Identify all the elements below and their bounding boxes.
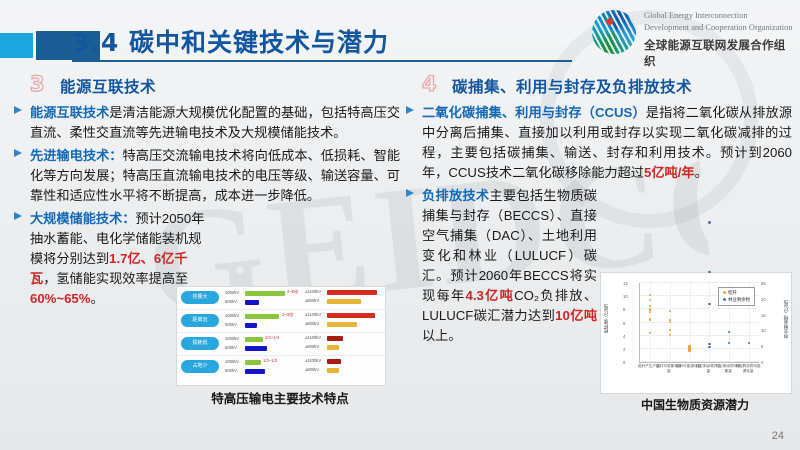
- chart-gridline: [640, 282, 759, 283]
- right-bullet-2-lead: 负排放技术: [422, 188, 489, 203]
- uhv-row-key-1b: 500kV: [225, 322, 237, 327]
- right-bullet-1: 二氧化碳捕集、利用与封存（CCUS）是指将二氧化碳从排放源中分离后捕集、直接加以…: [400, 103, 792, 183]
- uhv-bar-blue: [245, 369, 265, 374]
- left-bullet-3-body-2: ，氢储能实现效率提高至: [43, 271, 188, 286]
- uhv-row-key-2b: ±800kV: [305, 344, 319, 349]
- uhv-row-key-2b: ±800kV: [305, 367, 319, 372]
- chart-gridline-vertical: [709, 283, 710, 362]
- chart-y-tick: 4: [623, 334, 625, 339]
- left-section-header: 3 能源互联技术: [8, 74, 400, 100]
- org-logo: Global Energy Interconnection Developmen…: [592, 8, 797, 60]
- uhv-bar-red: [327, 336, 343, 341]
- uhv-row-key-1: 1000kV: [225, 336, 239, 341]
- uhv-bar-blue: [245, 346, 267, 351]
- left-bullet-3-lead: 大规模储能技术：: [30, 211, 136, 226]
- left-bullet-3-body-3: 。: [91, 291, 104, 306]
- right-bullet-2-text: 负排放技术主要包括生物质碳捕集与封存（BECCS）、直接空气捕集（DAC）、土地…: [422, 186, 597, 346]
- header-underline: [72, 60, 572, 62]
- chart-data-point: [708, 343, 710, 345]
- left-bullet-1: 能源互联技术是清洁能源大规模优化配置的基础，包括特高压交直流、柔性交直流等先进输…: [8, 103, 400, 143]
- chart-legend-item: 林业剩余物: [723, 297, 750, 304]
- logo-english: Global Energy Interconnection Developmen…: [644, 10, 796, 33]
- logo-chinese: 全球能源互联网发展合作组织: [644, 37, 797, 69]
- left-section-title: 能源互联技术: [60, 75, 156, 97]
- uhv-row-key-2b: ±800kV: [305, 321, 319, 326]
- chart-y-tick: 12: [623, 281, 628, 286]
- uhv-bar-red: [327, 290, 377, 295]
- right-bullet-1-body-2: 。: [695, 165, 708, 180]
- chart-gridline: [640, 308, 759, 309]
- uhv-row-tag: 容量大: [181, 291, 219, 304]
- biomass-figure-caption: 中国生物质资源潜力: [600, 396, 790, 413]
- uhv-row-key-2: ±1100kV: [305, 312, 321, 317]
- arrow-bullet-icon: [14, 212, 22, 220]
- right-bullet-1-text: 二氧化碳捕集、利用与封存（CCUS）是指将二氧化碳从排放源中分离后捕集、直接加以…: [422, 103, 792, 183]
- left-column: 3 能源互联技术 能源互联技术是清洁能源大规模优化配置的基础，包括特高压交直流、…: [8, 74, 400, 309]
- chart-data-point: [669, 310, 671, 312]
- left-bullet-2-lead: 先进输电技术：: [30, 148, 123, 163]
- section-number-4: 4: [422, 72, 437, 96]
- globe-icon: [592, 10, 636, 54]
- uhv-bar-red: [327, 359, 341, 364]
- logo-english-line2: Development and Cooperation Organization: [644, 22, 796, 34]
- uhv-row-key-2: ±1100kV: [305, 289, 321, 294]
- uhv-row-key-1: 1000kV: [225, 359, 239, 364]
- left-bullet-1-lead: 能源互联技术: [30, 105, 109, 120]
- arrow-bullet-icon: [406, 189, 414, 197]
- right-bullet-1-highlight-1: 5亿吨/年: [644, 165, 695, 180]
- uhv-row-key-1b: 500kV: [225, 368, 237, 373]
- chart-x-tick: 林业剩余物可能源化量: [735, 364, 761, 373]
- chart-data-point: [708, 271, 710, 273]
- uhv-bar-green: [245, 360, 261, 365]
- uhv-row: 距离远 1000kV 2~3倍 500kV ±1100kV ±800kV: [177, 310, 385, 333]
- right-bullet-1-lead: 二氧化碳捕集、利用与封存（CCUS）: [422, 105, 646, 120]
- arrow-bullet-icon: [406, 106, 414, 114]
- uhv-row-key-2: ±1100kV: [305, 358, 321, 363]
- uhv-bar-amber: [327, 345, 339, 350]
- right-bullet-2-body-1: 主要包括生物质碳捕集与封存（BECCS）、直接空气捕集（DAC）、土地利用变化和…: [422, 188, 597, 303]
- chart-y2-tick: 5: [761, 344, 763, 349]
- uhv-row-key-1: 1000kV: [225, 313, 239, 318]
- uhv-row-tag: 距离远: [181, 314, 219, 327]
- chart-y-tick: 2: [623, 347, 625, 352]
- uhv-row-key-2b: ±800kV: [305, 298, 319, 303]
- uhv-row-key-1b: 500kV: [225, 345, 237, 350]
- chart-y-tick: 8: [623, 307, 625, 312]
- right-bullet-2-body-3: 以上。: [422, 328, 462, 343]
- chart-legend-label: 秸秆: [728, 290, 737, 295]
- chart-data-point: [708, 346, 710, 348]
- uhv-row: 损耗低 1000kV 1/3~1/4 500kV ±1100kV ±800kV: [177, 333, 385, 356]
- uhv-bar-green: [245, 337, 263, 342]
- chart-y2-axis-label: 林业剩余物（亿吨）: [783, 297, 789, 338]
- chart-y2-tick: 10: [761, 328, 766, 333]
- chart-data-point: [688, 350, 690, 352]
- chart-y-axis-label: 秸秆量（亿吨）: [603, 301, 609, 333]
- chart-legend-label: 林业剩余物: [728, 297, 750, 302]
- uhv-bar-green: [245, 291, 285, 296]
- right-section-title: 碳捕集、利用与封存及负排放技术: [452, 75, 692, 97]
- uhv-row-val-1: 2~3倍: [282, 312, 293, 318]
- chart-gridline: [640, 322, 759, 323]
- chart-y-tick: 6: [623, 321, 625, 326]
- uhv-bar-blue: [245, 323, 257, 328]
- right-bullet-2-highlight-2: 10亿吨: [555, 308, 597, 323]
- chart-gridline: [640, 348, 759, 349]
- uhv-characteristics-figure: 容量大 1000kV 4~5倍 500kV ±1100kV ±800kV 距离远…: [176, 286, 386, 386]
- uhv-row: 占地少 1000kV 1/2~1/3 500kV ±1100kV ±800kV: [177, 356, 385, 378]
- uhv-row-key-1: 1000kV: [225, 290, 239, 295]
- uhv-row-key-2: ±1100kV: [305, 335, 321, 340]
- uhv-figure-caption: 特高压输电主要技术特点: [176, 388, 384, 407]
- arrow-bullet-icon: [14, 106, 22, 114]
- uhv-row-val-1: 1/3~1/4: [265, 335, 279, 340]
- slide-header: 3.4 碳中和关键技术与潜力 Global Energy Interconnec…: [0, 0, 800, 72]
- uhv-bar-amber: [327, 322, 357, 327]
- arrow-bullet-icon: [14, 149, 22, 157]
- left-bullet-2-text: 先进输电技术：特高压交流输电技术将向低成本、低损耗、智能化等方向发展；特高压直流…: [30, 146, 400, 206]
- chart-y2-tick: 15: [761, 313, 766, 318]
- chart-gridline: [640, 335, 759, 336]
- uhv-bar-amber: [327, 299, 361, 304]
- left-bullet-1-text: 能源互联技术是清洁能源大规模优化配置的基础，包括特高压交直流、柔性交直流等先进输…: [30, 103, 400, 143]
- page-number: 24: [772, 430, 784, 442]
- chart-y2-tick: 20: [761, 297, 766, 302]
- uhv-bar-green: [245, 314, 279, 319]
- chart-gridline: [640, 361, 759, 362]
- page-title: 3.4 碳中和关键技术与潜力: [72, 23, 389, 59]
- chart-data-point: [649, 318, 651, 320]
- left-bullet-2: 先进输电技术：特高压交流输电技术将向低成本、低损耗、智能化等方向发展；特高压直流…: [8, 146, 400, 206]
- uhv-bar-amber: [327, 368, 339, 373]
- uhv-row-tag: 损耗低: [181, 337, 219, 350]
- slide: GEIDCO 3.4 碳中和关键技术与潜力 Global Energy Inte…: [0, 0, 800, 450]
- header-accent-square-light: [0, 33, 33, 58]
- right-bullet-2-highlight-1: 4.3亿吨: [465, 288, 514, 303]
- chart-y-tick: 10: [623, 294, 628, 299]
- chart-y2-tick: 0: [761, 360, 763, 365]
- uhv-bar-red: [327, 313, 375, 318]
- left-bullet-3-highlight-2: 60%~65%: [30, 291, 91, 306]
- chart-y2-tick: 25: [761, 281, 766, 286]
- biomass-potential-chart: 秸秆量（亿吨） 林业剩余物（亿吨） 024681012 0510152025 秸…: [600, 272, 792, 394]
- uhv-row: 容量大 1000kV 4~5倍 500kV ±1100kV ±800kV: [177, 287, 385, 310]
- chart-data-point: [708, 221, 710, 223]
- uhv-row-val-1: 1/2~1/3: [263, 358, 277, 363]
- uhv-bar-blue: [245, 300, 259, 305]
- uhv-row-val-1: 4~5倍: [287, 289, 298, 295]
- right-section-header: 4 碳捕集、利用与封存及负排放技术: [400, 74, 792, 100]
- chart-data-point: [669, 329, 671, 331]
- uhv-row-tag: 占地少: [181, 360, 219, 373]
- logo-english-line1: Global Energy Interconnection: [644, 10, 796, 22]
- section-number-3: 3: [30, 72, 45, 96]
- uhv-row-key-1b: 500kV: [225, 299, 237, 304]
- chart-legend: 秸秆林业剩余物: [718, 287, 755, 306]
- chart-y-tick: 0: [623, 360, 625, 365]
